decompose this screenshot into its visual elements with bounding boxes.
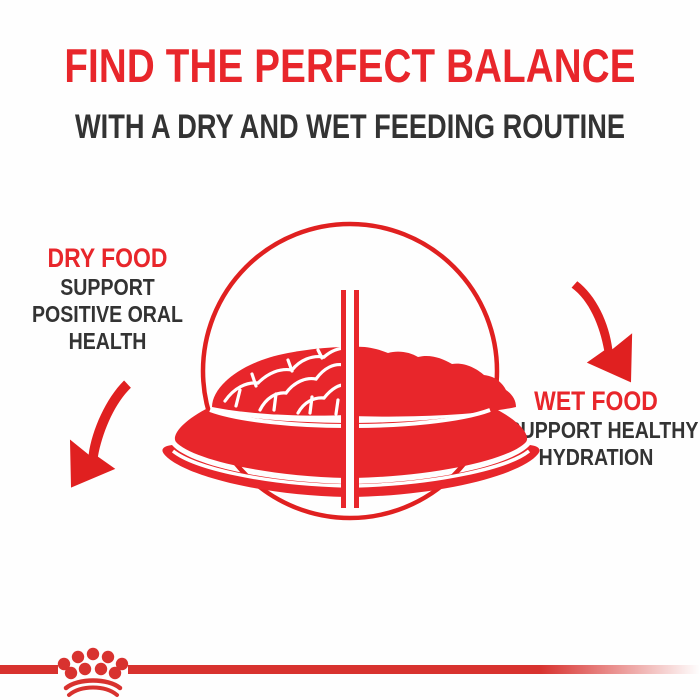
- poster-canvas: FIND THE PERFECT BALANCE WITH A DRY AND …: [0, 0, 700, 700]
- wet-food-half: [354, 347, 540, 497]
- royal-canin-crown-logo: [58, 648, 128, 695]
- dry-kibble-half: [162, 347, 346, 497]
- curved-arrow-up-left: [60, 380, 140, 488]
- footer-brand-bar: [0, 638, 700, 700]
- feeding-illustration: [60, 210, 650, 540]
- curved-arrow-down-right: [562, 281, 641, 383]
- red-rule-right: [128, 665, 700, 674]
- red-rule-left: [0, 665, 58, 674]
- page-title: FIND THE PERFECT BALANCE: [63, 40, 637, 92]
- page-subtitle: WITH A DRY AND WET FEEDING ROUTINE: [70, 108, 630, 146]
- vertical-split-line: [341, 290, 359, 508]
- split-pet-food-bowl: [162, 290, 539, 508]
